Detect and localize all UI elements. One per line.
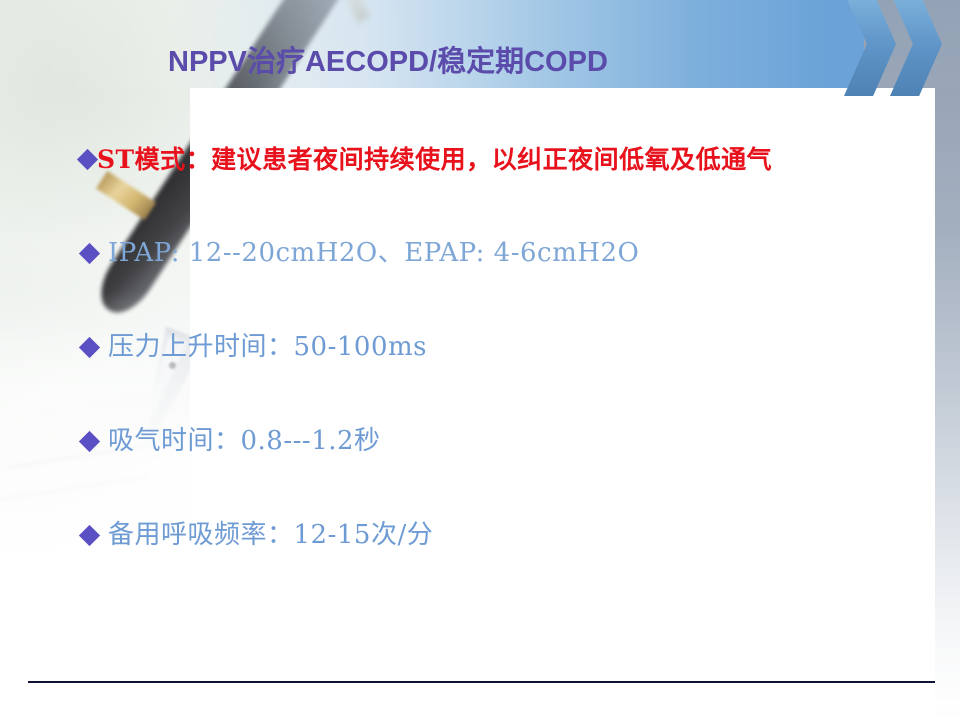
diamond-bullet-icon (79, 524, 100, 545)
diamond-bullet-icon (79, 336, 100, 357)
slide-title: NPPV治疗AECOPD/稳定期COPD (168, 38, 608, 80)
bullet-text: 备用呼吸频率：12-15次/分 (108, 522, 433, 548)
bullet-item-rise-time: 压力上升时间：50-100ms (82, 334, 427, 360)
bullet-text: ST模式：建议患者夜间持续使用，以纠正夜间低氧及低通气 (97, 147, 772, 172)
diamond-bullet-icon (77, 149, 98, 170)
bullet-list: ST模式：建议患者夜间持续使用，以纠正夜间低氧及低通气 IPAP: 12--20… (0, 0, 960, 720)
bullet-item-backup-rate: 备用呼吸频率：12-15次/分 (82, 522, 433, 548)
bullet-text: 吸气时间：0.8---1.2秒 (108, 428, 381, 454)
diamond-bullet-icon (79, 242, 100, 263)
bullet-text: 压力上升时间：50-100ms (108, 334, 427, 360)
bullet-item-ipap-epap: IPAP: 12--20cmH2O、EPAP: 4-6cmH2O (82, 240, 639, 266)
presentation-slide: NPPV治疗AECOPD/稳定期COPD ST模式：建议患者夜间持续使用，以纠正… (0, 0, 960, 720)
footer-divider (28, 681, 935, 683)
bullet-item-inspiratory-time: 吸气时间：0.8---1.2秒 (82, 428, 381, 454)
diamond-bullet-icon (79, 430, 100, 451)
bullet-item-st-mode: ST模式：建议患者夜间持续使用，以纠正夜间低氧及低通气 (80, 147, 772, 172)
bullet-text: IPAP: 12--20cmH2O、EPAP: 4-6cmH2O (108, 240, 639, 266)
